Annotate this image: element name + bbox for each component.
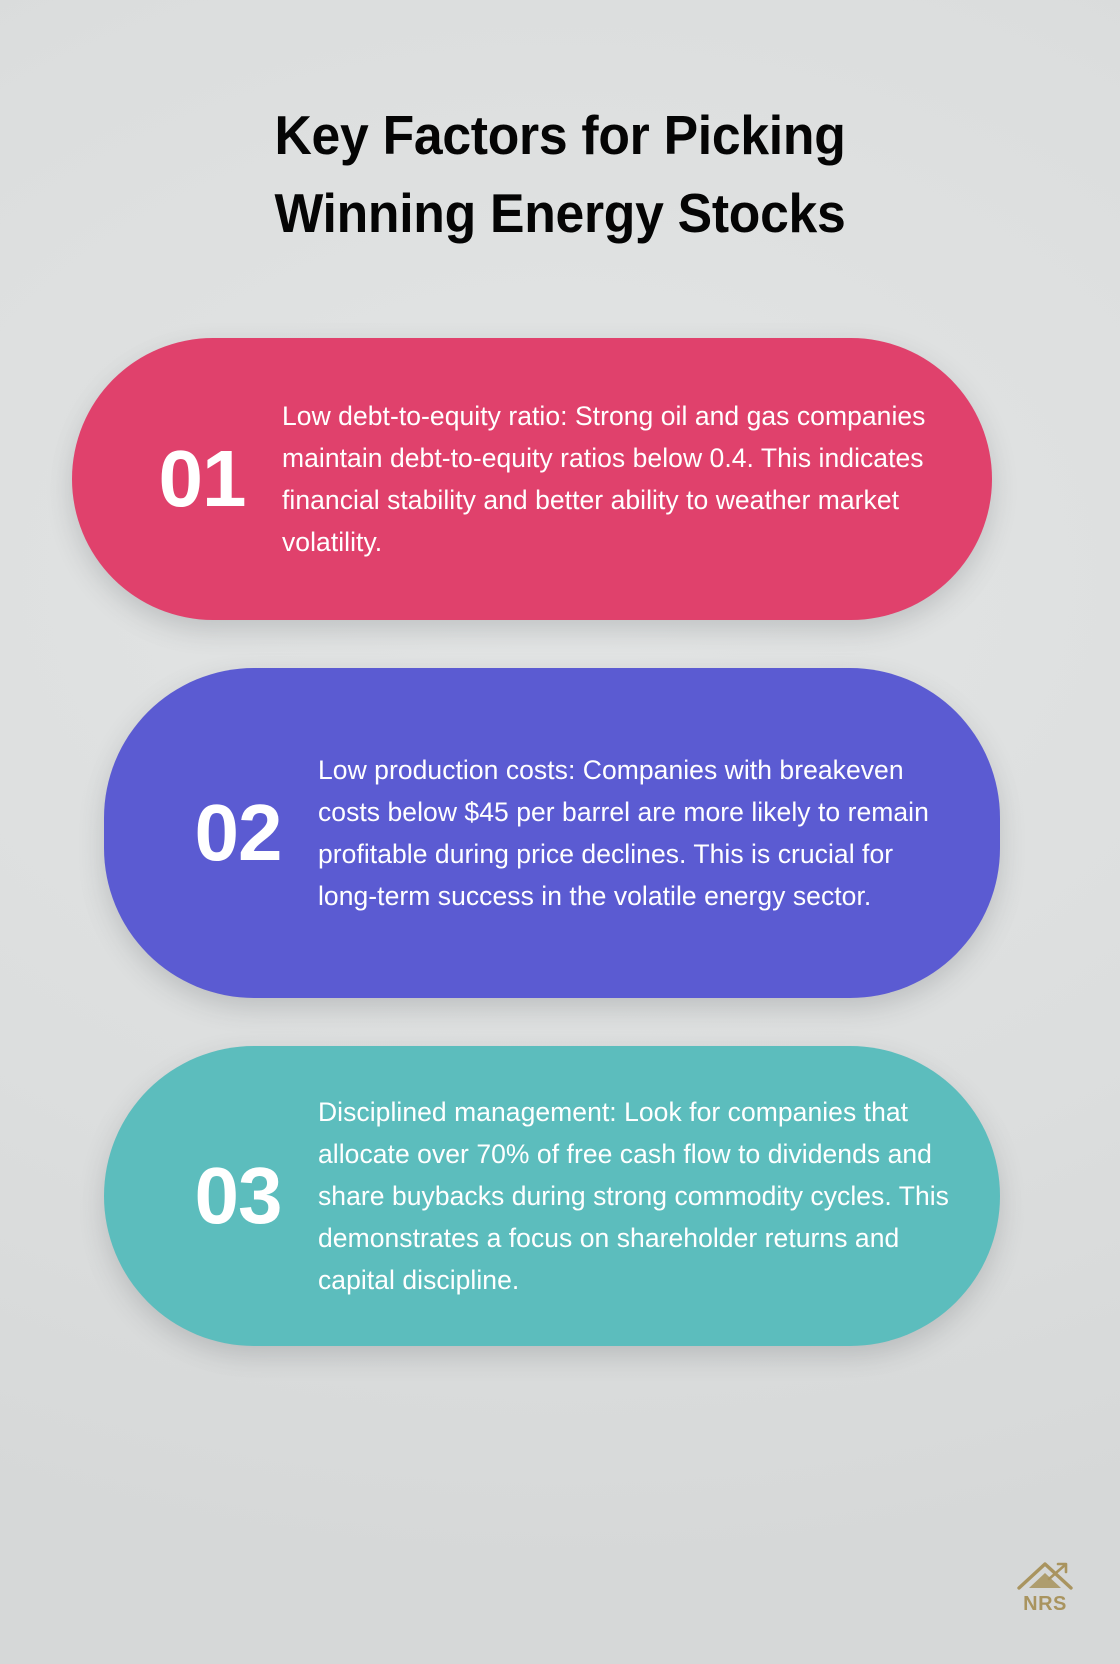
card-number-02: 02 bbox=[158, 793, 318, 873]
title-heading: Key Factors for PickingWinning Energy St… bbox=[146, 96, 973, 252]
card-text-01: Low debt-to-equity ratio: Strong oil and… bbox=[282, 395, 944, 563]
infographic-page: Key Factors for PickingWinning Energy St… bbox=[0, 0, 1120, 1664]
page-title: Key Factors for PickingWinning Energy St… bbox=[0, 96, 1120, 252]
card-number-03: 03 bbox=[158, 1156, 318, 1236]
logo-text: NRS bbox=[1023, 1594, 1067, 1614]
card-number-01: 01 bbox=[122, 439, 282, 519]
nrs-logo: NRS bbox=[1008, 1546, 1082, 1614]
title-line-2: Winning Energy Stocks bbox=[274, 182, 845, 244]
house-roof-arrow-icon bbox=[1015, 1558, 1075, 1592]
factor-card-01: 01 Low debt-to-equity ratio: Strong oil … bbox=[72, 338, 992, 620]
factor-card-03: 03 Disciplined management: Look for comp… bbox=[104, 1046, 1000, 1346]
factor-card-02: 02 Low production costs: Companies with … bbox=[104, 668, 1000, 998]
title-line-1: Key Factors for Picking bbox=[274, 104, 845, 166]
card-text-02: Low production costs: Companies with bre… bbox=[318, 749, 956, 917]
cards-list: 01 Low debt-to-equity ratio: Strong oil … bbox=[0, 338, 1120, 1346]
card-text-03: Disciplined management: Look for compani… bbox=[318, 1091, 956, 1301]
